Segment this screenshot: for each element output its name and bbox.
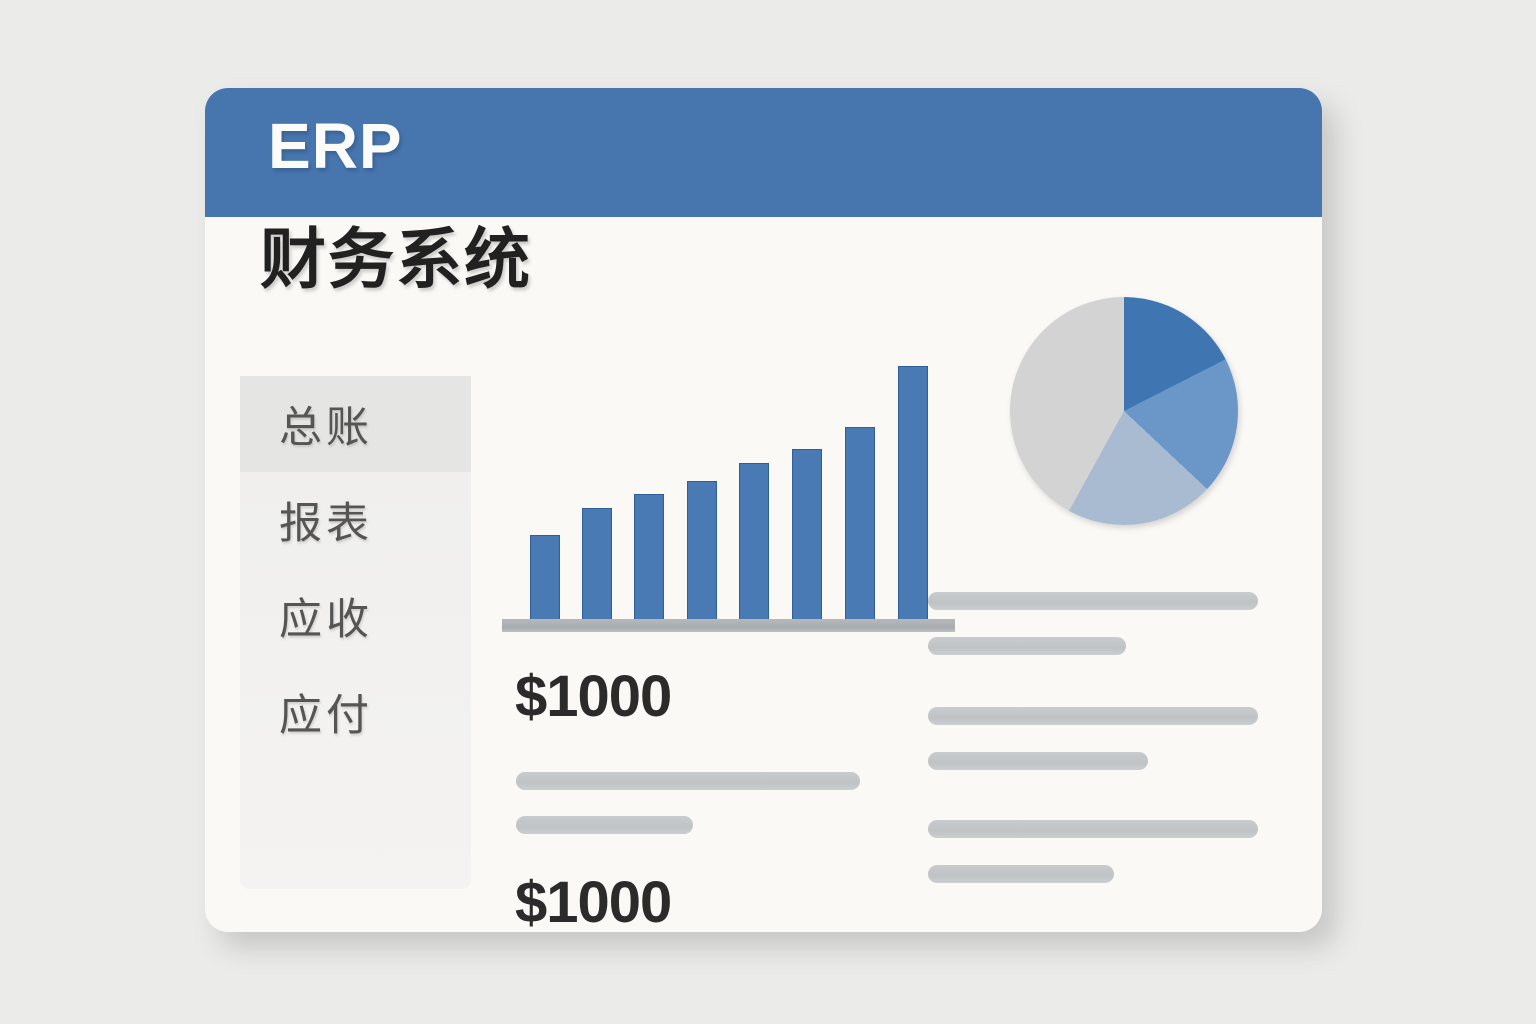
app-logo: ERP — [268, 114, 403, 178]
sidebar-item-payables[interactable]: 应付 — [240, 664, 471, 760]
sidebar-item-label: 报表 — [279, 489, 373, 551]
bar-chart-bar — [898, 366, 928, 620]
revenue-bar-chart[interactable] — [500, 343, 960, 638]
sidebar-item-label: 总账 — [279, 393, 373, 455]
app-titlebar: ERP — [205, 88, 1322, 217]
bar-chart-bar — [792, 449, 822, 620]
bar-chart-bar — [530, 535, 560, 621]
distribution-pie-chart[interactable] — [1010, 297, 1238, 525]
bar-chart-baseline — [502, 619, 955, 632]
placeholder-line — [928, 637, 1126, 655]
metric-value-secondary: $1000 — [515, 874, 671, 932]
sidebar-item-label: 应收 — [279, 585, 373, 647]
placeholder-line — [928, 865, 1114, 883]
sidebar-item-reports[interactable]: 报表 — [240, 472, 471, 568]
bar-chart-bar — [582, 508, 612, 621]
sidebar-item-receivables[interactable]: 应收 — [240, 568, 471, 664]
page-title: 财务系统 — [260, 226, 532, 292]
sidebar-item-general-ledger[interactable]: 总账 — [240, 376, 471, 472]
metric-value-primary: $1000 — [515, 668, 671, 726]
bar-chart-bar — [845, 427, 875, 621]
placeholder-line — [516, 772, 860, 790]
screen-root: ERP 财务系统 总账 报表 应收 应付 — [0, 0, 1536, 1024]
placeholder-line — [928, 707, 1258, 725]
bar-chart-bar — [634, 494, 664, 620]
sidebar-item-label: 应付 — [279, 681, 373, 743]
placeholder-line — [516, 816, 693, 834]
sidebar-nav: 总账 报表 应收 应付 — [240, 376, 471, 889]
bar-chart-bar — [687, 481, 717, 621]
placeholder-line — [928, 752, 1148, 770]
placeholder-line — [928, 820, 1258, 838]
placeholder-line — [928, 592, 1258, 610]
bar-chart-bar — [739, 463, 769, 621]
app-window-card: ERP 财务系统 总账 报表 应收 应付 — [205, 88, 1322, 932]
